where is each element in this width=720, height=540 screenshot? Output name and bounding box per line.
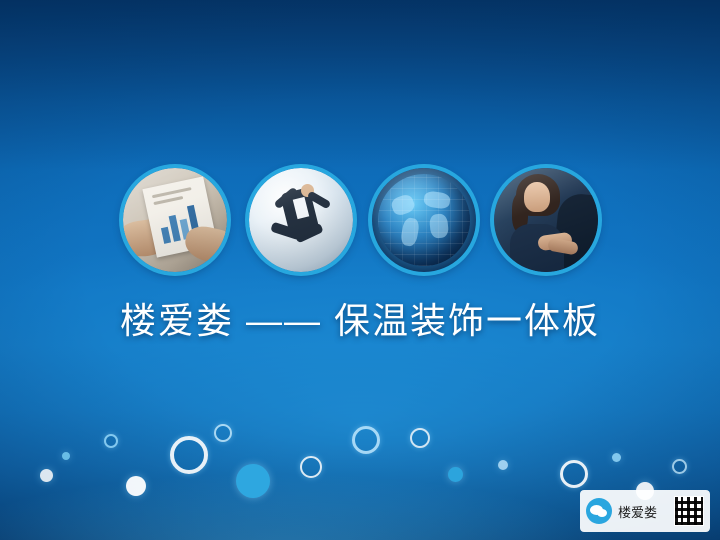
- wechat-icon: [586, 498, 612, 524]
- bubble: [126, 476, 146, 496]
- bubble: [62, 452, 70, 460]
- wechat-account-badge[interactable]: 楼爱娄: [580, 490, 710, 532]
- presentation-slide: 楼爱娄 —— 保温装饰一体板 楼爱娄: [0, 0, 720, 540]
- bubble: [560, 460, 588, 488]
- bubble: [236, 464, 270, 498]
- bubble: [40, 469, 53, 482]
- photo-handshake: [494, 168, 598, 272]
- bubble: [104, 434, 118, 448]
- bubble: [498, 460, 508, 470]
- photo-blue-globe: [372, 168, 476, 272]
- slide-title: 楼爱娄 —— 保温装饰一体板: [0, 292, 720, 344]
- qr-code-icon: [674, 496, 704, 526]
- bubble: [300, 456, 322, 478]
- bubble: [214, 424, 232, 442]
- bubble: [410, 428, 430, 448]
- bubble: [448, 467, 463, 482]
- circular-photo-row: [0, 168, 720, 272]
- photo-jumping-businessman: [249, 168, 353, 272]
- bubble: [672, 459, 687, 474]
- bubble: [612, 453, 621, 462]
- wechat-account-name: 楼爱娄: [618, 502, 668, 521]
- bubble: [170, 436, 208, 474]
- photo-hands-chart: [123, 168, 227, 272]
- bubble: [352, 426, 380, 454]
